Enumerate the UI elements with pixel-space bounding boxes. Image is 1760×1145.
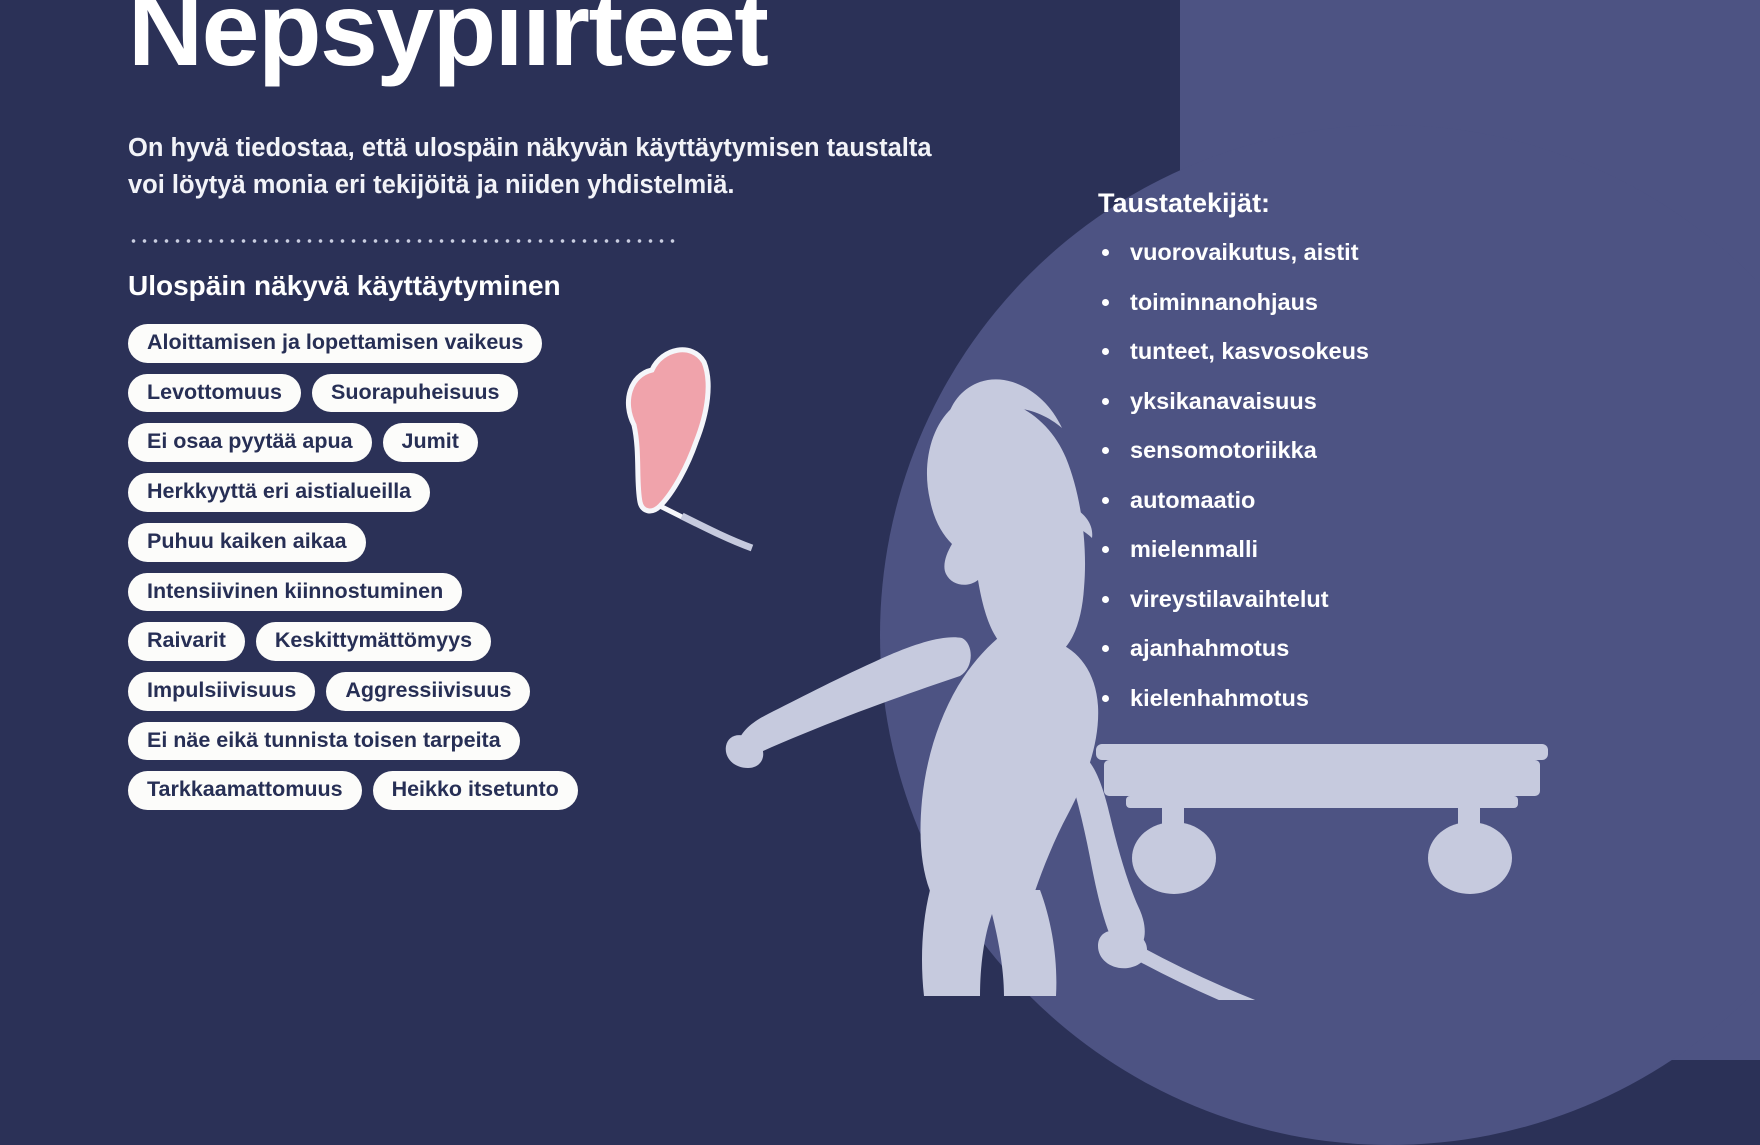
behaviour-pill[interactable]: Aloittamisen ja lopettamisen vaikeus <box>128 324 542 363</box>
list-item: toiminnanohjaus <box>1098 291 1658 315</box>
background-factors-list: vuorovaikutus, aistit toiminnanohjaus tu… <box>1098 241 1658 710</box>
behaviour-pill[interactable]: Tarkkaamattomuus <box>128 771 362 810</box>
list-item: vireystilavaihtelut <box>1098 588 1658 612</box>
wagon-group <box>1090 744 1650 964</box>
page-title: Nepsypiirteet <box>128 0 888 82</box>
pill-row: Herkkyyttä eri aistialueilla <box>128 473 888 512</box>
behaviour-pill[interactable]: Ei osaa pyytää apua <box>128 423 372 462</box>
list-item: tunteet, kasvosokeus <box>1098 340 1658 364</box>
pill-row: Impulsiivisuus Aggressiivisuus <box>128 672 888 711</box>
list-item: automaatio <box>1098 489 1658 513</box>
section-heading-background-factors: Taustatekijät: <box>1098 188 1658 219</box>
behaviour-pill[interactable]: Suorapuheisuus <box>312 374 518 413</box>
pill-row: Ei näe eikä tunnista toisen tarpeita <box>128 722 888 761</box>
behaviour-pill[interactable]: Intensiivinen kiinnostuminen <box>128 573 462 612</box>
pill-row: Ei osaa pyytää apua Jumit <box>128 423 888 462</box>
behaviour-pill[interactable]: Herkkyyttä eri aistialueilla <box>128 473 430 512</box>
behaviour-pill[interactable]: Keskittymättömyys <box>256 622 491 661</box>
behaviour-pill[interactable]: Impulsiivisuus <box>128 672 315 711</box>
list-item: mielenmalli <box>1098 538 1658 562</box>
behaviour-pill[interactable]: Ei näe eikä tunnista toisen tarpeita <box>128 722 520 761</box>
list-item: sensomotoriikka <box>1098 439 1658 463</box>
list-item: yksikanavaisuus <box>1098 390 1658 414</box>
behaviour-pill[interactable]: Puhuu kaiken aikaa <box>128 523 366 562</box>
right-column: Taustatekijät: vuorovaikutus, aistit toi… <box>1098 188 1658 736</box>
behaviour-pill[interactable]: Heikko itsetunto <box>373 771 578 810</box>
behaviour-pill[interactable]: Levottomuus <box>128 374 301 413</box>
pill-row: Levottomuus Suorapuheisuus <box>128 374 888 413</box>
behaviour-pill-list: Aloittamisen ja lopettamisen vaikeus Lev… <box>128 324 888 810</box>
section-heading-visible-behaviour: Ulospäin näkyvä käyttäytyminen <box>128 270 888 302</box>
pill-row: Puhuu kaiken aikaa <box>128 523 888 562</box>
pill-row: Intensiivinen kiinnostuminen <box>128 573 888 612</box>
list-item: vuorovaikutus, aistit <box>1098 241 1658 265</box>
intro-paragraph: On hyvä tiedostaa, että ulospäin näkyvän… <box>128 130 958 204</box>
behaviour-pill[interactable]: Raivarit <box>128 622 245 661</box>
list-item: ajanhahmotus <box>1098 637 1658 661</box>
list-item: kielenhahmotus <box>1098 687 1658 711</box>
behaviour-pill[interactable]: Jumit <box>383 423 478 462</box>
left-column: Nepsypiirteet On hyvä tiedostaa, että ul… <box>128 0 888 990</box>
pill-row: Aloittamisen ja lopettamisen vaikeus <box>128 324 888 363</box>
pill-row: Tarkkaamattomuus Heikko itsetunto <box>128 771 888 810</box>
dotted-divider <box>128 238 678 244</box>
behaviour-pill[interactable]: Aggressiivisuus <box>326 672 530 711</box>
pill-row: Raivarit Keskittymättömyys <box>128 622 888 661</box>
